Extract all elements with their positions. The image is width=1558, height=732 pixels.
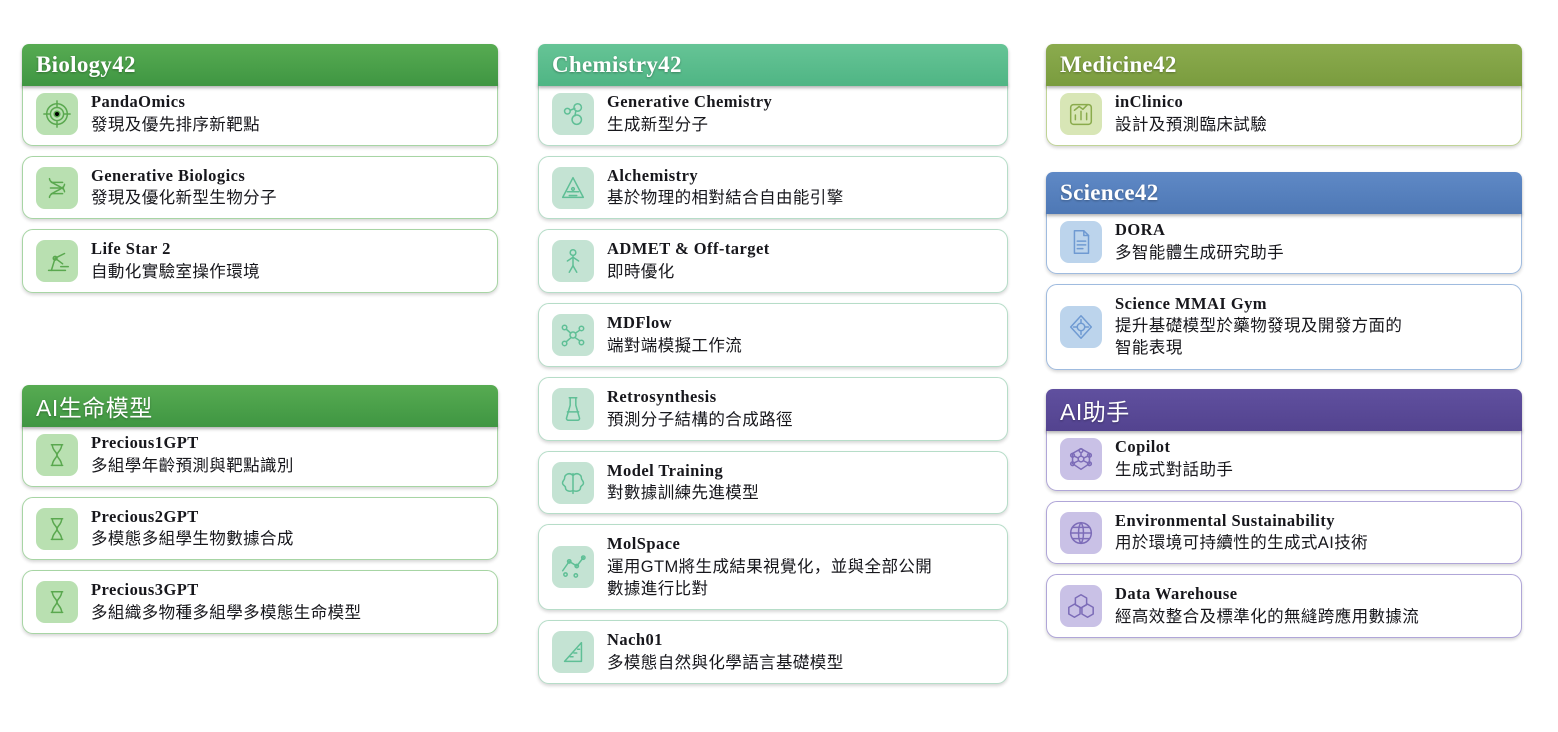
- product-card[interactable]: Nach01多模態自然與化學語言基礎模型: [538, 620, 1008, 684]
- card-title: Precious2GPT: [91, 507, 485, 528]
- product-card[interactable]: Data Warehouse經高效整合及標準化的無縫跨應用數據流: [1046, 574, 1522, 638]
- group-title: Science42: [1060, 180, 1159, 206]
- card-description: 設計及預測臨床試驗: [1115, 114, 1509, 136]
- product-card[interactable]: ADMET & Off-target即時優化: [538, 229, 1008, 293]
- card-text: inClinico設計及預測臨床試驗: [1115, 92, 1509, 136]
- card-text: Science MMAI Gym提升基礎模型於藥物發現及開發方面的 智能表現: [1115, 294, 1509, 360]
- card-description: 生成式對話助手: [1115, 459, 1509, 481]
- group-chemistry42: Chemistry42Generative Chemistry生成新型分子Alc…: [538, 44, 1008, 684]
- product-card[interactable]: Science MMAI Gym提升基礎模型於藥物發現及開發方面的 智能表現: [1046, 284, 1522, 370]
- card-title: Generative Chemistry: [607, 92, 995, 113]
- card-text: DORA多智能體生成研究助手: [1115, 220, 1509, 264]
- card-title: Precious1GPT: [91, 433, 485, 454]
- card-title: Science MMAI Gym: [1115, 294, 1509, 315]
- card-text: Environmental Sustainability用於環境可持續性的生成式…: [1115, 511, 1509, 555]
- group-title: AI生命模型: [36, 389, 153, 423]
- card-title: Copilot: [1115, 437, 1509, 458]
- card-description: 多模態多組學生物數據合成: [91, 528, 485, 550]
- globe-icon: [1060, 512, 1102, 554]
- card-title: Data Warehouse: [1115, 584, 1509, 605]
- copilot-node-icon: [1060, 438, 1102, 480]
- product-card[interactable]: Precious1GPT多組學年齡預測與靶點識別: [22, 423, 498, 487]
- group-medicine42: Medicine42inClinico設計及預測臨床試驗: [1046, 44, 1522, 146]
- product-card[interactable]: Copilot生成式對話助手: [1046, 427, 1522, 491]
- card-description: 提升基礎模型於藥物發現及開發方面的 智能表現: [1115, 315, 1509, 359]
- card-title: ADMET & Off-target: [607, 239, 995, 260]
- card-description: 多模態自然與化學語言基礎模型: [607, 652, 995, 674]
- card-text: PandaOmics發現及優先排序新靶點: [91, 92, 485, 136]
- product-card[interactable]: Retrosynthesis預測分子結構的合成路徑: [538, 377, 1008, 441]
- group-header: AI助手: [1046, 389, 1522, 431]
- group-header: Science42: [1046, 172, 1522, 214]
- card-title: MDFlow: [607, 313, 995, 334]
- group-header: Medicine42: [1046, 44, 1522, 86]
- card-description: 預測分子結構的合成路徑: [607, 409, 995, 431]
- product-card[interactable]: Life Star 2自動化實驗室操作環境: [22, 229, 498, 293]
- brain-icon: [552, 462, 594, 504]
- card-description: 自動化實驗室操作環境: [91, 261, 485, 283]
- mmai-gym-icon: [1060, 306, 1102, 348]
- card-description: 多智能體生成研究助手: [1115, 242, 1509, 264]
- product-portfolio-board: Biology42PandaOmics發現及優先排序新靶點Generative …: [0, 0, 1558, 732]
- beaker-icon: [552, 388, 594, 430]
- card-description: 發現及優化新型生物分子: [91, 187, 485, 209]
- robot-arm-icon: [36, 240, 78, 282]
- card-title: DORA: [1115, 220, 1509, 241]
- group-science42: Science42DORA多智能體生成研究助手Science MMAI Gym提…: [1046, 172, 1522, 370]
- product-card[interactable]: PandaOmics發現及優先排序新靶點: [22, 82, 498, 146]
- card-title: Precious3GPT: [91, 580, 485, 601]
- card-text: Precious1GPT多組學年齡預測與靶點識別: [91, 433, 485, 477]
- card-description: 多組學年齡預測與靶點識別: [91, 455, 485, 477]
- card-description: 經高效整合及標準化的無縫跨應用數據流: [1115, 606, 1509, 628]
- human-body-icon: [552, 240, 594, 282]
- card-description: 即時優化: [607, 261, 995, 283]
- group-header: Biology42: [22, 44, 498, 86]
- card-text: Generative Biologics發現及優化新型生物分子: [91, 166, 485, 210]
- card-description: 端對端模擬工作流: [607, 335, 995, 357]
- group-biology42: Biology42PandaOmics發現及優先排序新靶點Generative …: [22, 44, 498, 293]
- ruler-triangle-icon: [552, 631, 594, 673]
- bar-chart-icon: [1060, 93, 1102, 135]
- product-card[interactable]: Alchemistry基於物理的相對結合自由能引擎: [538, 156, 1008, 220]
- group-title: Medicine42: [1060, 52, 1177, 78]
- card-description: 用於環境可持續性的生成式AI技術: [1115, 532, 1509, 554]
- triangle-flask-icon: [552, 167, 594, 209]
- target-icon: [36, 93, 78, 135]
- card-title: MolSpace: [607, 534, 995, 555]
- hourglass-icon: [36, 434, 78, 476]
- card-text: Data Warehouse經高效整合及標準化的無縫跨應用數據流: [1115, 584, 1509, 628]
- group-ai: AI生命模型Precious1GPT多組學年齡預測與靶點識別Precious2G…: [22, 385, 498, 634]
- card-description: 運用GTM將生成結果視覺化，並與全部公開 數據進行比對: [607, 556, 995, 600]
- document-icon: [1060, 221, 1102, 263]
- card-description: 多組織多物種多組學多模態生命模型: [91, 602, 485, 624]
- product-card[interactable]: DORA多智能體生成研究助手: [1046, 210, 1522, 274]
- card-title: Environmental Sustainability: [1115, 511, 1509, 532]
- card-text: ADMET & Off-target即時優化: [607, 239, 995, 283]
- product-card[interactable]: Model Training對數據訓練先進模型: [538, 451, 1008, 515]
- card-text: Alchemistry基於物理的相對結合自由能引擎: [607, 166, 995, 210]
- hourglass-icon: [36, 508, 78, 550]
- group-header: AI生命模型: [22, 385, 498, 427]
- group-title: AI助手: [1060, 393, 1130, 427]
- card-title: Life Star 2: [91, 239, 485, 260]
- scatter-map-icon: [552, 546, 594, 588]
- hourglass-icon: [36, 581, 78, 623]
- cubes-icon: [1060, 585, 1102, 627]
- product-card[interactable]: Precious2GPT多模態多組學生物數據合成: [22, 497, 498, 561]
- card-description: 發現及優先排序新靶點: [91, 114, 485, 136]
- group-ai: AI助手Copilot生成式對話助手Environmental Sustaina…: [1046, 389, 1522, 638]
- card-text: MolSpace運用GTM將生成結果視覺化，並與全部公開 數據進行比對: [607, 534, 995, 600]
- card-text: Life Star 2自動化實驗室操作環境: [91, 239, 485, 283]
- product-card[interactable]: MDFlow端對端模擬工作流: [538, 303, 1008, 367]
- card-description: 生成新型分子: [607, 114, 995, 136]
- group-title: Chemistry42: [552, 52, 682, 78]
- product-card[interactable]: Environmental Sustainability用於環境可持續性的生成式…: [1046, 501, 1522, 565]
- card-description: 基於物理的相對結合自由能引擎: [607, 187, 995, 209]
- product-card[interactable]: MolSpace運用GTM將生成結果視覺化，並與全部公開 數據進行比對: [538, 524, 1008, 610]
- card-text: Retrosynthesis預測分子結構的合成路徑: [607, 387, 995, 431]
- product-card[interactable]: inClinico設計及預測臨床試驗: [1046, 82, 1522, 146]
- card-text: Model Training對數據訓練先進模型: [607, 461, 995, 505]
- card-text: Generative Chemistry生成新型分子: [607, 92, 995, 136]
- product-card[interactable]: Precious3GPT多組織多物種多組學多模態生命模型: [22, 570, 498, 634]
- molecule-icon: [552, 93, 594, 135]
- network-nodes-icon: [552, 314, 594, 356]
- card-text: MDFlow端對端模擬工作流: [607, 313, 995, 357]
- card-title: PandaOmics: [91, 92, 485, 113]
- product-card[interactable]: Generative Chemistry生成新型分子: [538, 82, 1008, 146]
- card-title: Model Training: [607, 461, 995, 482]
- card-title: Generative Biologics: [91, 166, 485, 187]
- card-text: Copilot生成式對話助手: [1115, 437, 1509, 481]
- card-text: Precious3GPT多組織多物種多組學多模態生命模型: [91, 580, 485, 624]
- card-description: 對數據訓練先進模型: [607, 482, 995, 504]
- group-header: Chemistry42: [538, 44, 1008, 86]
- card-title: Alchemistry: [607, 166, 995, 187]
- card-title: Nach01: [607, 630, 995, 651]
- dna-helix-icon: [36, 167, 78, 209]
- card-title: Retrosynthesis: [607, 387, 995, 408]
- card-text: Precious2GPT多模態多組學生物數據合成: [91, 507, 485, 551]
- card-text: Nach01多模態自然與化學語言基礎模型: [607, 630, 995, 674]
- card-title: inClinico: [1115, 92, 1509, 113]
- product-card[interactable]: Generative Biologics發現及優化新型生物分子: [22, 156, 498, 220]
- group-title: Biology42: [36, 52, 136, 78]
